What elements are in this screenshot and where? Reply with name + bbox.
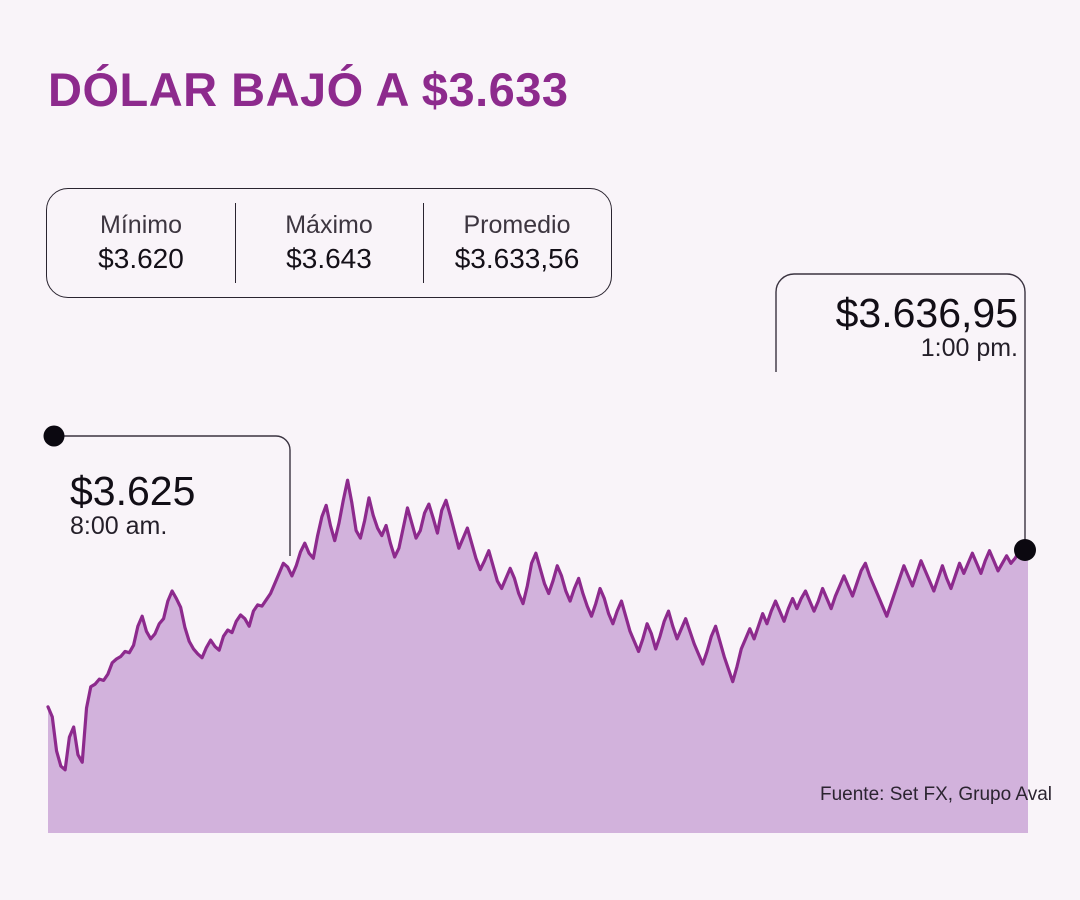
intraday-area-chart <box>0 0 1080 900</box>
stat-promedio: Promedio $3.633,56 <box>423 189 611 297</box>
page-title: DÓLAR BAJÓ A $3.633 <box>48 64 569 116</box>
end-callout-time: 1:00 pm. <box>836 335 1018 363</box>
stat-minimo-value: $3.620 <box>98 243 184 275</box>
infographic-root: DÓLAR BAJÓ A $3.633 Mínimo $3.620 Máximo… <box>0 0 1080 900</box>
stat-promedio-label: Promedio <box>464 211 571 240</box>
source-note: Fuente: Set FX, Grupo Aval <box>820 784 1052 806</box>
stat-maximo: Máximo $3.643 <box>235 189 423 297</box>
end-callout: $3.636,95 1:00 pm. <box>836 292 1018 363</box>
stat-maximo-label: Máximo <box>285 211 373 240</box>
stat-minimo-label: Mínimo <box>100 211 182 240</box>
stat-minimo: Mínimo $3.620 <box>47 189 235 297</box>
start-point-marker <box>44 426 65 447</box>
stat-promedio-value: $3.633,56 <box>455 243 580 275</box>
start-callout-time: 8:00 am. <box>70 513 195 541</box>
start-callout-value: $3.625 <box>70 470 195 513</box>
summary-stats-box: Mínimo $3.620 Máximo $3.643 Promedio $3.… <box>46 188 612 298</box>
chart-area <box>0 0 1080 900</box>
start-callout: $3.625 8:00 am. <box>70 470 195 541</box>
end-callout-value: $3.636,95 <box>836 292 1018 335</box>
end-point-marker <box>1014 539 1036 561</box>
stat-maximo-value: $3.643 <box>286 243 372 275</box>
